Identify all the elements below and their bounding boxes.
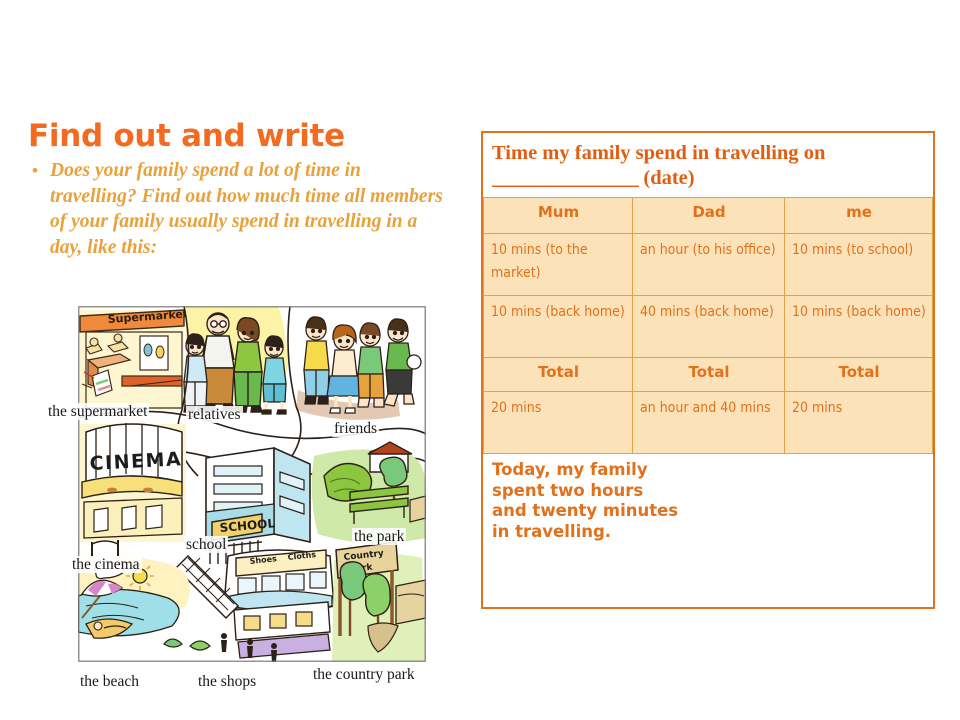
table-row: 10 mins (back home) 40 mins (back home) … (484, 296, 933, 358)
cell-me-trip1[interactable]: 10 mins (to school) (785, 234, 933, 296)
summary-note: Today, my family spent two hours and twe… (483, 454, 933, 550)
label-friends: friends (332, 420, 379, 437)
country-park-area: Country Park (332, 542, 426, 662)
cell-mum-trip2[interactable]: 10 mins (back home) (484, 296, 633, 358)
column-header-mum: Mum (484, 198, 633, 234)
table-total-value-row: 20 mins an hour and 40 mins 20 mins (484, 392, 933, 454)
table-heading-prefix: on (804, 142, 826, 164)
slide-canvas: Find out and write • Does your family sp… (0, 0, 960, 720)
column-header-dad: Dad (633, 198, 785, 234)
table-heading-line1: Time my family spend in travelling (492, 142, 799, 164)
cell-dad-trip2[interactable]: 40 mins (back home) (633, 296, 785, 358)
supermarket-scene: Supermarket (80, 307, 189, 410)
total-label-dad: Total (633, 358, 785, 392)
label-the-cinema: the cinema (70, 556, 142, 573)
label-the-beach: the beach (78, 673, 141, 690)
table-header-row: Mum Dad me (484, 198, 933, 234)
total-label-me: Total (785, 358, 933, 392)
label-the-supermarket: the supermarket (46, 403, 149, 420)
total-value-dad[interactable]: an hour and 40 mins (633, 392, 785, 454)
table-heading-suffix: (date) (638, 167, 694, 189)
total-value-mum[interactable]: 20 mins (484, 392, 633, 454)
label-school: school (184, 536, 228, 553)
label-relatives: relatives (186, 406, 243, 423)
label-the-park: the park (352, 528, 406, 545)
total-value-me[interactable]: 20 mins (785, 392, 933, 454)
cell-me-trip2[interactable]: 10 mins (back home) (785, 296, 933, 358)
table-heading: Time my family spend in travelling on __… (483, 133, 933, 197)
page-title: Find out and write (28, 118, 460, 154)
label-the-shops: the shops (196, 673, 258, 690)
cell-mum-trip1[interactable]: 10 mins (to the market) (484, 234, 633, 296)
table-total-label-row: Total Total Total (484, 358, 933, 392)
travel-time-grid: Mum Dad me 10 mins (to the market) an ho… (483, 197, 933, 454)
table-row: 10 mins (to the market) an hour (to his … (484, 234, 933, 296)
date-blank-field[interactable]: _______________ (492, 167, 638, 189)
intro-bullet-item: • Does your family spend a lot of time i… (28, 158, 460, 260)
intro-bullet-text: Does your family spend a lot of time in … (50, 158, 450, 260)
left-content-column: Find out and write • Does your family sp… (28, 118, 460, 260)
relatives-group (184, 306, 288, 414)
cinema-building: CINEMA (78, 423, 186, 558)
column-header-me: me (785, 198, 933, 234)
label-the-country-park: the country park (311, 666, 417, 683)
cell-dad-trip1[interactable]: an hour (to his office) (633, 234, 785, 296)
town-map-illustration: Supermarket (78, 306, 426, 662)
family-travel-table: Time my family spend in travelling on __… (481, 131, 935, 609)
total-label-mum: Total (484, 358, 633, 392)
bullet-marker-icon: • (28, 158, 50, 183)
